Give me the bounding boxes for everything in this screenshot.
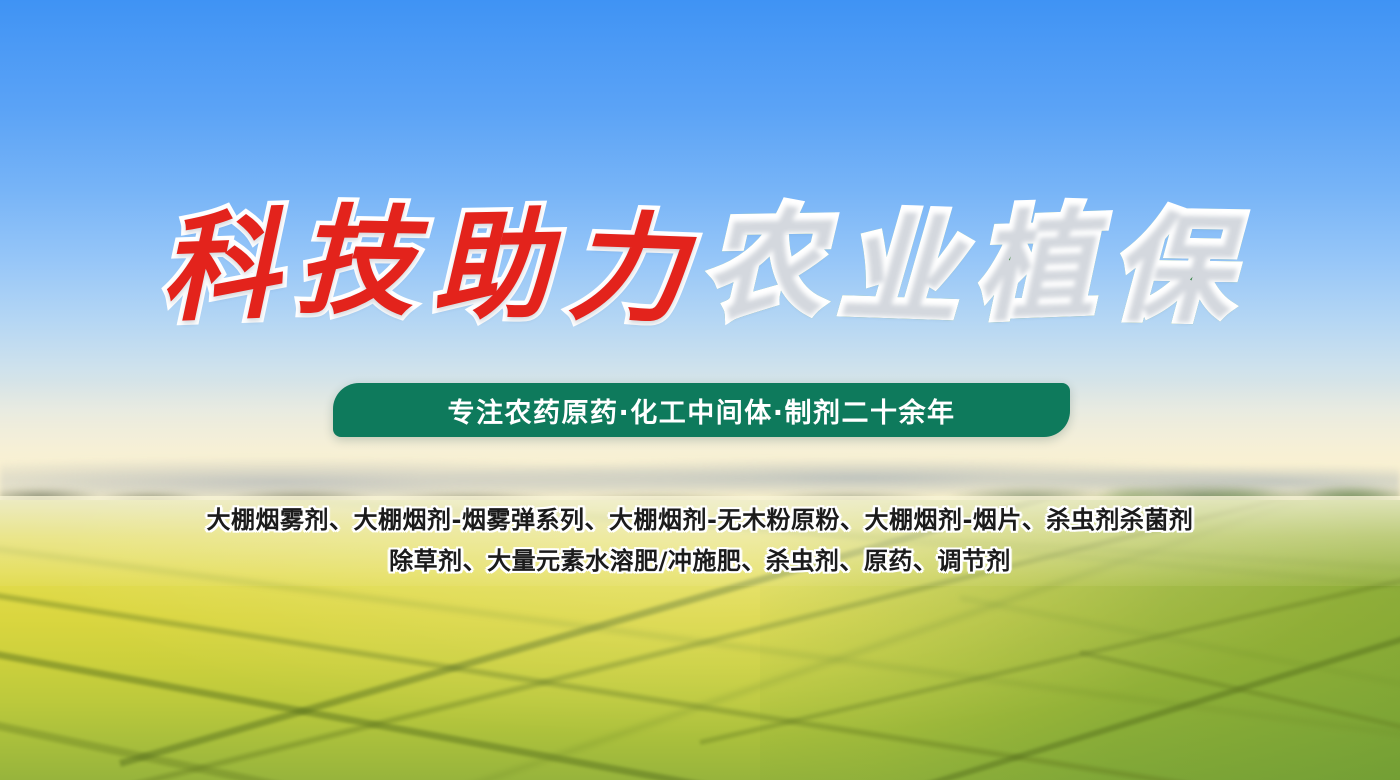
product-line-2: 除草剂、大量元素水溶肥/冲施肥、杀虫剂、原药、调节剂 xyxy=(0,541,1400,582)
subtitle-ribbon: 专注农药原药·化工中间体·制剂二十余年 xyxy=(333,383,1070,437)
headline-char-red-2: 技 xyxy=(291,202,429,322)
headline-char-green-4: 保 xyxy=(1107,207,1245,327)
product-line-1: 大棚烟雾剂、大棚烟剂-烟雾弹系列、大棚烟剂-无木粉原粉、大棚烟剂-烟片、杀虫剂杀… xyxy=(0,500,1400,541)
page-title: 科技助力农业植保 xyxy=(0,206,1400,324)
headline-char-green-3: 植 xyxy=(970,203,1110,326)
headline-char-green-2: 业 xyxy=(834,207,974,330)
headline-char-red-1: 科 xyxy=(154,206,294,329)
product-list: 大棚烟雾剂、大棚烟剂-烟雾弹系列、大棚烟剂-无木粉原粉、大棚烟剂-烟片、杀虫剂杀… xyxy=(0,500,1400,582)
headline-char-red-4: 力 xyxy=(562,208,702,331)
headline-char-red-3: 助 xyxy=(427,206,565,326)
hero-banner: 科技助力农业植保 专注农药原药·化工中间体·制剂二十余年 大棚烟雾剂、大棚烟剂-… xyxy=(0,0,1400,780)
subtitle-text: 专注农药原药·化工中间体·制剂二十余年 xyxy=(447,391,955,430)
headline-char-green-1: 农 xyxy=(699,203,837,323)
